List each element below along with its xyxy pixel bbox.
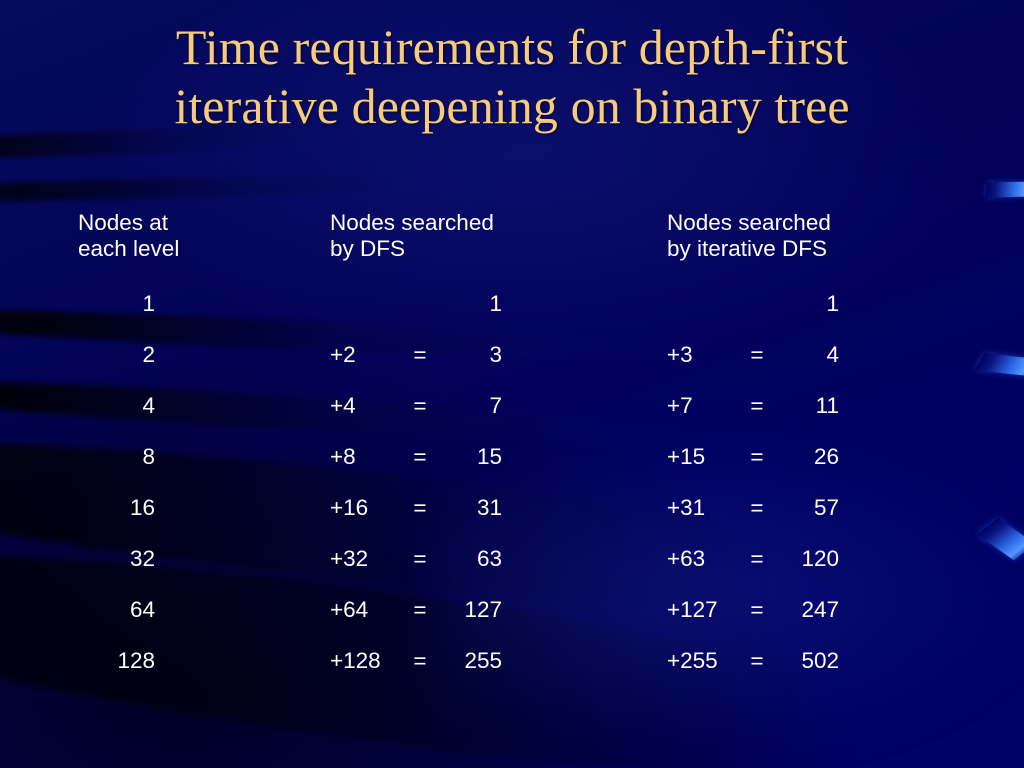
cell-dfs-expression: +2 = 3 [330,342,667,368]
dfs-addend: +32 [330,546,396,572]
dfs-equals: = [405,444,435,470]
dfs-addend: +8 [330,444,396,470]
table-row: 4 +4 = 7 +7 = 11 [78,380,978,431]
ribbon-accent-top [985,182,1024,198]
dfs-equals: = [405,495,435,521]
column-header-iterative-dfs: Nodes searched by iterative DFS [667,210,978,262]
iterative-result: 11 [781,393,839,419]
slide-title: Time requirements for depth-first iterat… [0,18,1024,136]
iterative-addend: +127 [667,597,733,623]
cell-iterative-expression: +31 = 57 [667,495,978,521]
cell-dfs-expression: 1 [330,291,667,317]
dfs-result: 3 [444,342,502,368]
dfs-addend: +16 [330,495,396,521]
table-row: 32 +32 = 63 +63 = 120 [78,533,978,584]
iterative-equals: = [742,495,772,521]
cell-nodes-at-level: 64 [78,597,330,623]
cell-iterative-expression: 1 [667,291,978,317]
background-swoosh [0,169,560,206]
column-header-dfs: Nodes searched by DFS [330,210,667,262]
dfs-result: 255 [444,648,502,674]
table-row: 2 +2 = 3 +3 = 4 [78,329,978,380]
iterative-result: 502 [781,648,839,674]
cell-dfs-expression: +32 = 63 [330,546,667,572]
dfs-equals: = [405,648,435,674]
dfs-result: 127 [444,597,502,623]
dfs-equals: = [405,546,435,572]
iterative-result: 57 [781,495,839,521]
comparison-table: Nodes at each level Nodes searched by DF… [78,210,978,686]
cell-dfs-expression: +64 = 127 [330,597,667,623]
iterative-result: 26 [781,444,839,470]
dfs-addend: +2 [330,342,396,368]
iterative-addend: +3 [667,342,733,368]
dfs-equals: = [405,393,435,419]
cell-dfs-expression: +4 = 7 [330,393,667,419]
iterative-result: 247 [781,597,839,623]
dfs-result: 1 [444,291,502,317]
iterative-addend: +15 [667,444,733,470]
iterative-equals: = [742,393,772,419]
table-row: 8 +8 = 15 +15 = 26 [78,431,978,482]
iterative-equals: = [742,648,772,674]
dfs-result: 31 [444,495,502,521]
table-row: 64 +64 = 127 +127 = 247 [78,584,978,635]
table-row: 1 1 1 [78,278,978,329]
iterative-addend: +7 [667,393,733,419]
cell-iterative-expression: +7 = 11 [667,393,978,419]
cell-dfs-expression: +8 = 15 [330,444,667,470]
ribbon-accent-middle [975,353,1024,376]
iterative-equals: = [742,444,772,470]
dfs-addend: +4 [330,393,396,419]
cell-nodes-at-level: 2 [78,342,330,368]
table-row: 128 +128 = 255 +255 = 502 [78,635,978,686]
cell-nodes-at-level: 32 [78,546,330,572]
cell-iterative-expression: +127 = 247 [667,597,978,623]
cell-iterative-expression: +15 = 26 [667,444,978,470]
cell-iterative-expression: +63 = 120 [667,546,978,572]
iterative-result: 1 [781,291,839,317]
dfs-equals: = [405,342,435,368]
cell-nodes-at-level: 1 [78,291,330,317]
cell-nodes-at-level: 128 [78,648,330,674]
cell-iterative-expression: +3 = 4 [667,342,978,368]
cell-nodes-at-level: 8 [78,444,330,470]
table-header-row: Nodes at each level Nodes searched by DF… [78,210,978,262]
cell-nodes-at-level: 16 [78,495,330,521]
cell-nodes-at-level: 4 [78,393,330,419]
iterative-addend: +255 [667,648,733,674]
iterative-equals: = [742,546,772,572]
dfs-result: 7 [444,393,502,419]
cell-iterative-expression: +255 = 502 [667,648,978,674]
dfs-result: 63 [444,546,502,572]
dfs-addend: +128 [330,648,396,674]
dfs-addend: +64 [330,597,396,623]
iterative-equals: = [742,342,772,368]
iterative-addend: +31 [667,495,733,521]
dfs-result: 15 [444,444,502,470]
cell-dfs-expression: +128 = 255 [330,648,667,674]
column-header-levels: Nodes at each level [78,210,330,262]
dfs-equals: = [405,597,435,623]
table-row: 16 +16 = 31 +31 = 57 [78,482,978,533]
iterative-result: 4 [781,342,839,368]
iterative-result: 120 [781,546,839,572]
iterative-addend: +63 [667,546,733,572]
iterative-equals: = [742,597,772,623]
cell-dfs-expression: +16 = 31 [330,495,667,521]
